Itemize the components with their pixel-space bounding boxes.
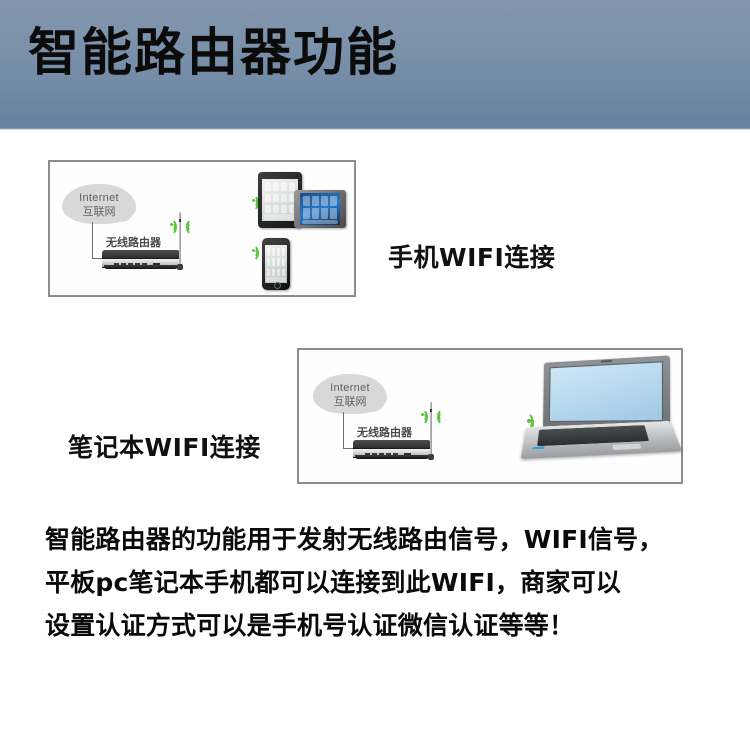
diagram-scene: Internet 互联网 无线路由器 bbox=[50, 162, 354, 295]
wifi-arc bbox=[161, 218, 177, 236]
laptop-screen bbox=[549, 361, 663, 422]
antenna-joint bbox=[177, 264, 182, 270]
laptop-lid bbox=[543, 355, 670, 431]
wifi-arc bbox=[437, 408, 453, 426]
wifi-dot bbox=[437, 413, 440, 416]
home-button-icon bbox=[274, 282, 281, 289]
app-icon bbox=[267, 269, 270, 277]
app-icon-grid bbox=[303, 196, 337, 220]
app-icon bbox=[272, 248, 275, 256]
tablet-screen bbox=[262, 179, 298, 221]
internet-cloud: Internet 互联网 bbox=[313, 374, 387, 414]
app-icon bbox=[273, 182, 279, 191]
wifi-arc bbox=[186, 218, 202, 236]
description-line-3: 设置认证方式可以是手机号认证微信认证等等！ bbox=[45, 604, 725, 647]
router-antenna bbox=[174, 212, 186, 268]
router-antenna bbox=[425, 402, 437, 458]
wifi-arc bbox=[243, 244, 259, 262]
app-icon bbox=[281, 182, 287, 191]
laptop-wifi-caption: 笔记本WIFI连接 bbox=[68, 428, 261, 464]
description-paragraph: 智能路由器的功能用于发射无线路由信号，WIFI信号， 平板pc笔记本手机都可以连… bbox=[45, 518, 725, 647]
app-icon bbox=[282, 248, 285, 256]
app-icon bbox=[273, 194, 279, 203]
app-icon bbox=[303, 196, 309, 207]
antenna-joint bbox=[428, 454, 433, 460]
laptop-wifi-diagram-panel: Internet 互联网 无线路由器 bbox=[297, 348, 683, 484]
app-icon bbox=[321, 196, 327, 207]
internet-cloud: Internet 互联网 bbox=[62, 184, 136, 224]
app-icon bbox=[282, 269, 285, 277]
diagram-scene: Internet 互联网 无线路由器 bbox=[299, 350, 681, 482]
app-icon bbox=[312, 208, 318, 219]
wifi-signal-icon bbox=[238, 240, 256, 262]
app-icon bbox=[267, 248, 270, 256]
cloud-label-en: Internet bbox=[313, 382, 387, 394]
laptop-touchpad bbox=[611, 443, 644, 451]
wifi-signal-icon bbox=[238, 190, 256, 212]
router-base bbox=[104, 265, 179, 269]
antenna-nub bbox=[179, 219, 181, 222]
page-header: 智能路由器功能 bbox=[0, 0, 750, 130]
page-title: 智能路由器功能 bbox=[28, 24, 399, 84]
tablet-dock bbox=[264, 214, 296, 219]
phone-wifi-diagram-panel: Internet 互联网 无线路由器 bbox=[48, 160, 356, 297]
app-icon bbox=[277, 269, 280, 277]
product-info-page: 智能路由器功能 Internet 互联网 无线路由器 bbox=[0, 0, 750, 750]
app-icon bbox=[277, 258, 280, 266]
webcam-icon bbox=[601, 360, 612, 363]
wifi-dot bbox=[170, 223, 173, 226]
app-icon bbox=[282, 258, 285, 266]
app-icon bbox=[273, 205, 279, 214]
router-base bbox=[355, 455, 430, 459]
wifi-dot bbox=[421, 413, 424, 416]
app-icon bbox=[281, 194, 287, 203]
app-icon bbox=[330, 196, 336, 207]
wireless-router bbox=[102, 250, 180, 269]
wifi-dot bbox=[252, 249, 255, 252]
app-icon bbox=[330, 208, 336, 219]
wifi-arc bbox=[412, 408, 428, 426]
cloud-label-cn: 互联网 bbox=[313, 393, 387, 409]
smartphone-device bbox=[262, 238, 290, 290]
cloud-router-link-vertical bbox=[343, 412, 344, 448]
cloud-router-link-vertical bbox=[92, 222, 93, 258]
wifi-dot bbox=[252, 199, 255, 202]
laptop-base bbox=[521, 421, 682, 459]
app-icon bbox=[303, 208, 309, 219]
app-icon bbox=[272, 258, 275, 266]
wifi-signal-icon bbox=[406, 404, 424, 426]
app-icon bbox=[277, 248, 280, 256]
phone-screen bbox=[265, 245, 287, 283]
app-icon bbox=[265, 182, 271, 191]
app-icon-grid bbox=[265, 182, 295, 213]
router-label: 无线路由器 bbox=[106, 234, 161, 250]
app-icon bbox=[265, 205, 271, 214]
app-icon bbox=[272, 269, 275, 277]
cloud-label-cn: 互联网 bbox=[62, 203, 136, 219]
wifi-dot bbox=[186, 223, 189, 226]
app-icon bbox=[321, 208, 327, 219]
laptop-indicator-icon bbox=[532, 446, 545, 449]
laptop-device bbox=[527, 362, 671, 474]
app-icon bbox=[312, 196, 318, 207]
wifi-signal-icon bbox=[155, 214, 173, 236]
description-line-1: 智能路由器的功能用于发射无线路由信号，WIFI信号， bbox=[45, 518, 725, 561]
tablet-landscape-device bbox=[294, 190, 346, 228]
app-icon bbox=[281, 205, 287, 214]
app-icon-grid bbox=[267, 248, 285, 276]
router-label: 无线路由器 bbox=[357, 424, 412, 440]
cloud-label-en: Internet bbox=[62, 192, 136, 204]
wifi-arc bbox=[243, 194, 259, 212]
tablet-dock bbox=[302, 220, 337, 224]
app-icon bbox=[265, 194, 271, 203]
antenna-nub bbox=[430, 409, 432, 412]
wifi-signal-icon bbox=[186, 214, 204, 236]
app-icon bbox=[267, 258, 270, 266]
tablet-screen bbox=[300, 193, 340, 225]
wireless-router bbox=[353, 440, 431, 459]
phone-wifi-caption: 手机WIFI连接 bbox=[388, 238, 555, 274]
description-line-2: 平板pc笔记本手机都可以连接到此WIFI，商家可以 bbox=[45, 561, 725, 604]
wifi-signal-icon bbox=[437, 404, 455, 426]
